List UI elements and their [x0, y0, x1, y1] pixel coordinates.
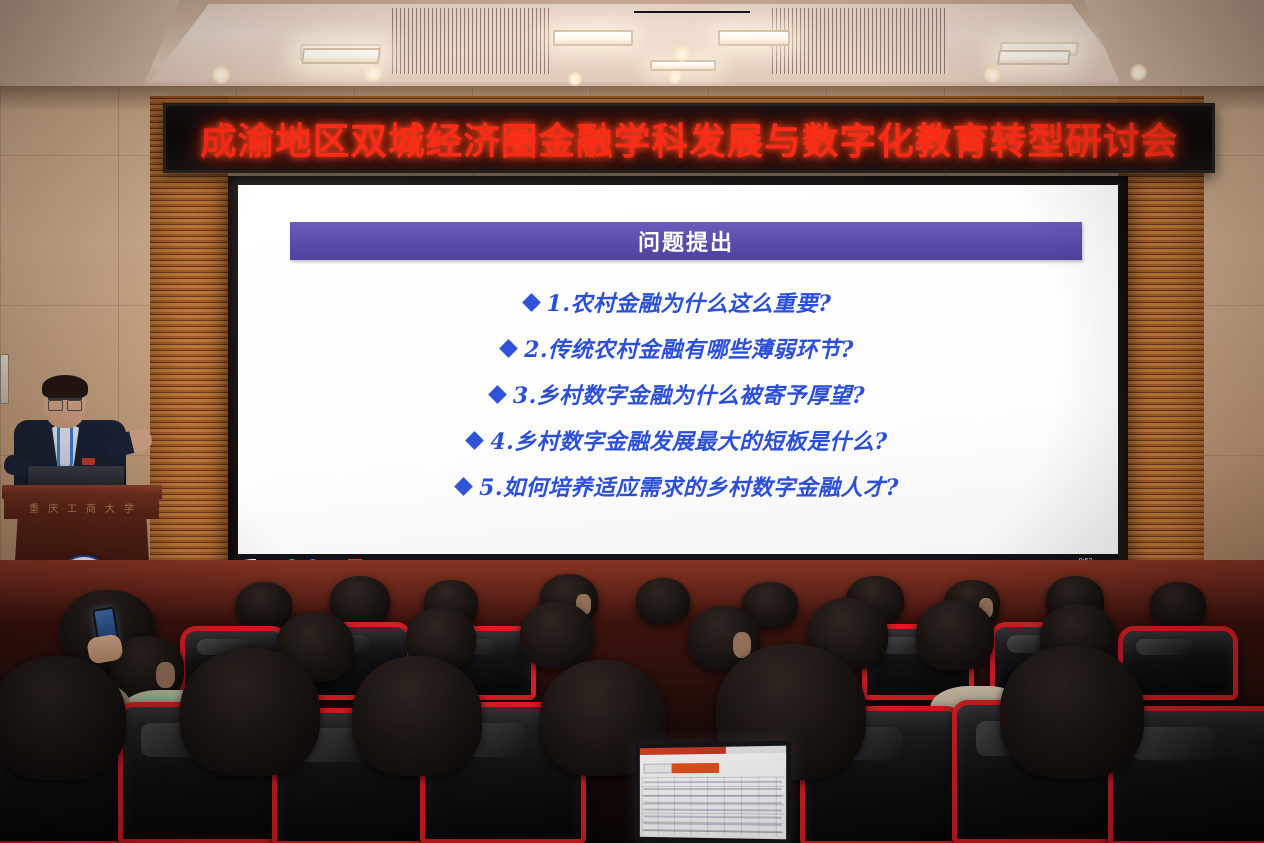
slide-bullet-item: 5.如何培养适应需求的乡村数字金融人才? — [457, 470, 899, 502]
speaker-hair — [42, 375, 88, 399]
plaque-char: 学 — [124, 500, 134, 515]
slide-title: 问题提出 — [638, 225, 734, 257]
ceiling-soffit — [150, 4, 1130, 82]
ceiling-downlight-3 — [568, 72, 582, 86]
ceiling-vent-grille-right — [772, 8, 948, 74]
spreadsheet-titlebar — [640, 746, 786, 755]
ceiling-panel-light-3 — [553, 30, 633, 46]
event-banner-title: 成渝地区双城经济圈金融学科发展与数字化教育转型研讨会 — [200, 111, 1178, 165]
audience-head-foreground — [180, 648, 320, 776]
slide-bullet-text: 3.乡村数字金融为什么被寄予厚望? — [513, 378, 865, 410]
event-led-banner: 成渝地区双城经济圈金融学科发展与数字化教育转型研讨会 — [163, 103, 1215, 173]
ceiling-panel-light-4 — [718, 30, 790, 46]
ceiling-downlight-6 — [984, 66, 1001, 83]
diamond-bullet-icon — [522, 293, 540, 311]
plaque-char: 工 — [67, 500, 77, 515]
slide-bullet-item: 2.传统农村金融有哪些薄弱环节? — [502, 332, 854, 364]
speaker-lanyard — [57, 424, 73, 470]
audience-head-foreground — [0, 656, 126, 780]
slide-bullet-item: 3.乡村数字金融为什么被寄予厚望? — [491, 378, 865, 410]
ceiling-mounted-display — [634, 0, 750, 13]
ceiling-panel-light-7 — [997, 50, 1071, 65]
ceiling-downlight-1 — [212, 66, 230, 84]
speaker-glasses — [48, 398, 82, 407]
ceiling — [0, 0, 1264, 92]
audience-head-foreground — [1000, 646, 1144, 778]
plaque-char: 大 — [105, 500, 115, 515]
plaque-char: 重 — [29, 500, 39, 515]
audience-head-foreground — [352, 656, 482, 776]
slide-bullet-item: 1.农村金融为什么这么重要? — [525, 286, 832, 318]
spreadsheet-cell-ref — [644, 763, 672, 773]
projection-screen: 问题提出 1.农村金融为什么这么重要? 2.传统农村金融有哪些薄弱环节? 3.乡… — [238, 185, 1118, 576]
ceiling-vent-grille-left — [392, 8, 550, 74]
projection-screen-frame: 问题提出 1.农村金融为什么这么重要? 2.传统农村金融有哪些薄弱环节? 3.乡… — [228, 176, 1128, 576]
audience-head — [636, 578, 690, 624]
diamond-bullet-icon — [466, 431, 484, 449]
slide-bullet-text: 2.传统农村金融有哪些薄弱环节? — [524, 332, 854, 364]
diamond-bullet-icon — [499, 339, 517, 357]
slide-bullet-list: 1.农村金融为什么这么重要? 2.传统农村金融有哪些薄弱环节? 3.乡村数字金融… — [266, 286, 1090, 502]
slide-bullet-text: 1.农村金融为什么这么重要? — [547, 286, 832, 318]
spreadsheet-window — [640, 746, 786, 840]
diamond-bullet-icon — [454, 477, 472, 495]
slide-title-bar: 问题提出 — [290, 222, 1082, 260]
ceiling-downlight-7 — [1130, 64, 1147, 81]
presentation-slide: 问题提出 1.农村金融为什么这么重要? 2.传统农村金融有哪些薄弱环节? 3.乡… — [238, 185, 1118, 576]
audience-laptop[interactable] — [635, 740, 791, 843]
slide-bullet-text: 5.如何培养适应需求的乡村数字金融人才? — [479, 470, 899, 502]
audience-head — [520, 602, 594, 668]
ceiling-panel-light-2 — [301, 48, 381, 64]
slide-bullet-item: 4.乡村数字金融发展最大的短板是什么? — [468, 424, 887, 456]
audience-seating — [0, 560, 1264, 843]
audience-head — [1150, 582, 1206, 628]
laptop-display — [635, 740, 791, 843]
spreadsheet-data-rows — [644, 779, 782, 835]
diamond-bullet-icon — [488, 385, 506, 403]
audience-head — [236, 582, 292, 628]
audience-head — [916, 600, 994, 670]
speaker-name-badge — [82, 458, 95, 465]
plaque-char: 商 — [86, 500, 96, 515]
ceiling-downlight-4 — [674, 46, 690, 62]
ceiling-downlight-2 — [364, 64, 382, 82]
plaque-char: 庆 — [48, 500, 58, 515]
podium-name-plaque: 重 庆 工 商 大 学 — [4, 495, 159, 519]
ceiling-downlight-5 — [668, 70, 682, 84]
lecture-hall-photo: 成渝地区双城经济圈金融学科发展与数字化教育转型研讨会 问题提出 1.农村金融为什… — [0, 0, 1264, 843]
slide-bullet-text: 4.乡村数字金融发展最大的短板是什么? — [490, 424, 887, 456]
